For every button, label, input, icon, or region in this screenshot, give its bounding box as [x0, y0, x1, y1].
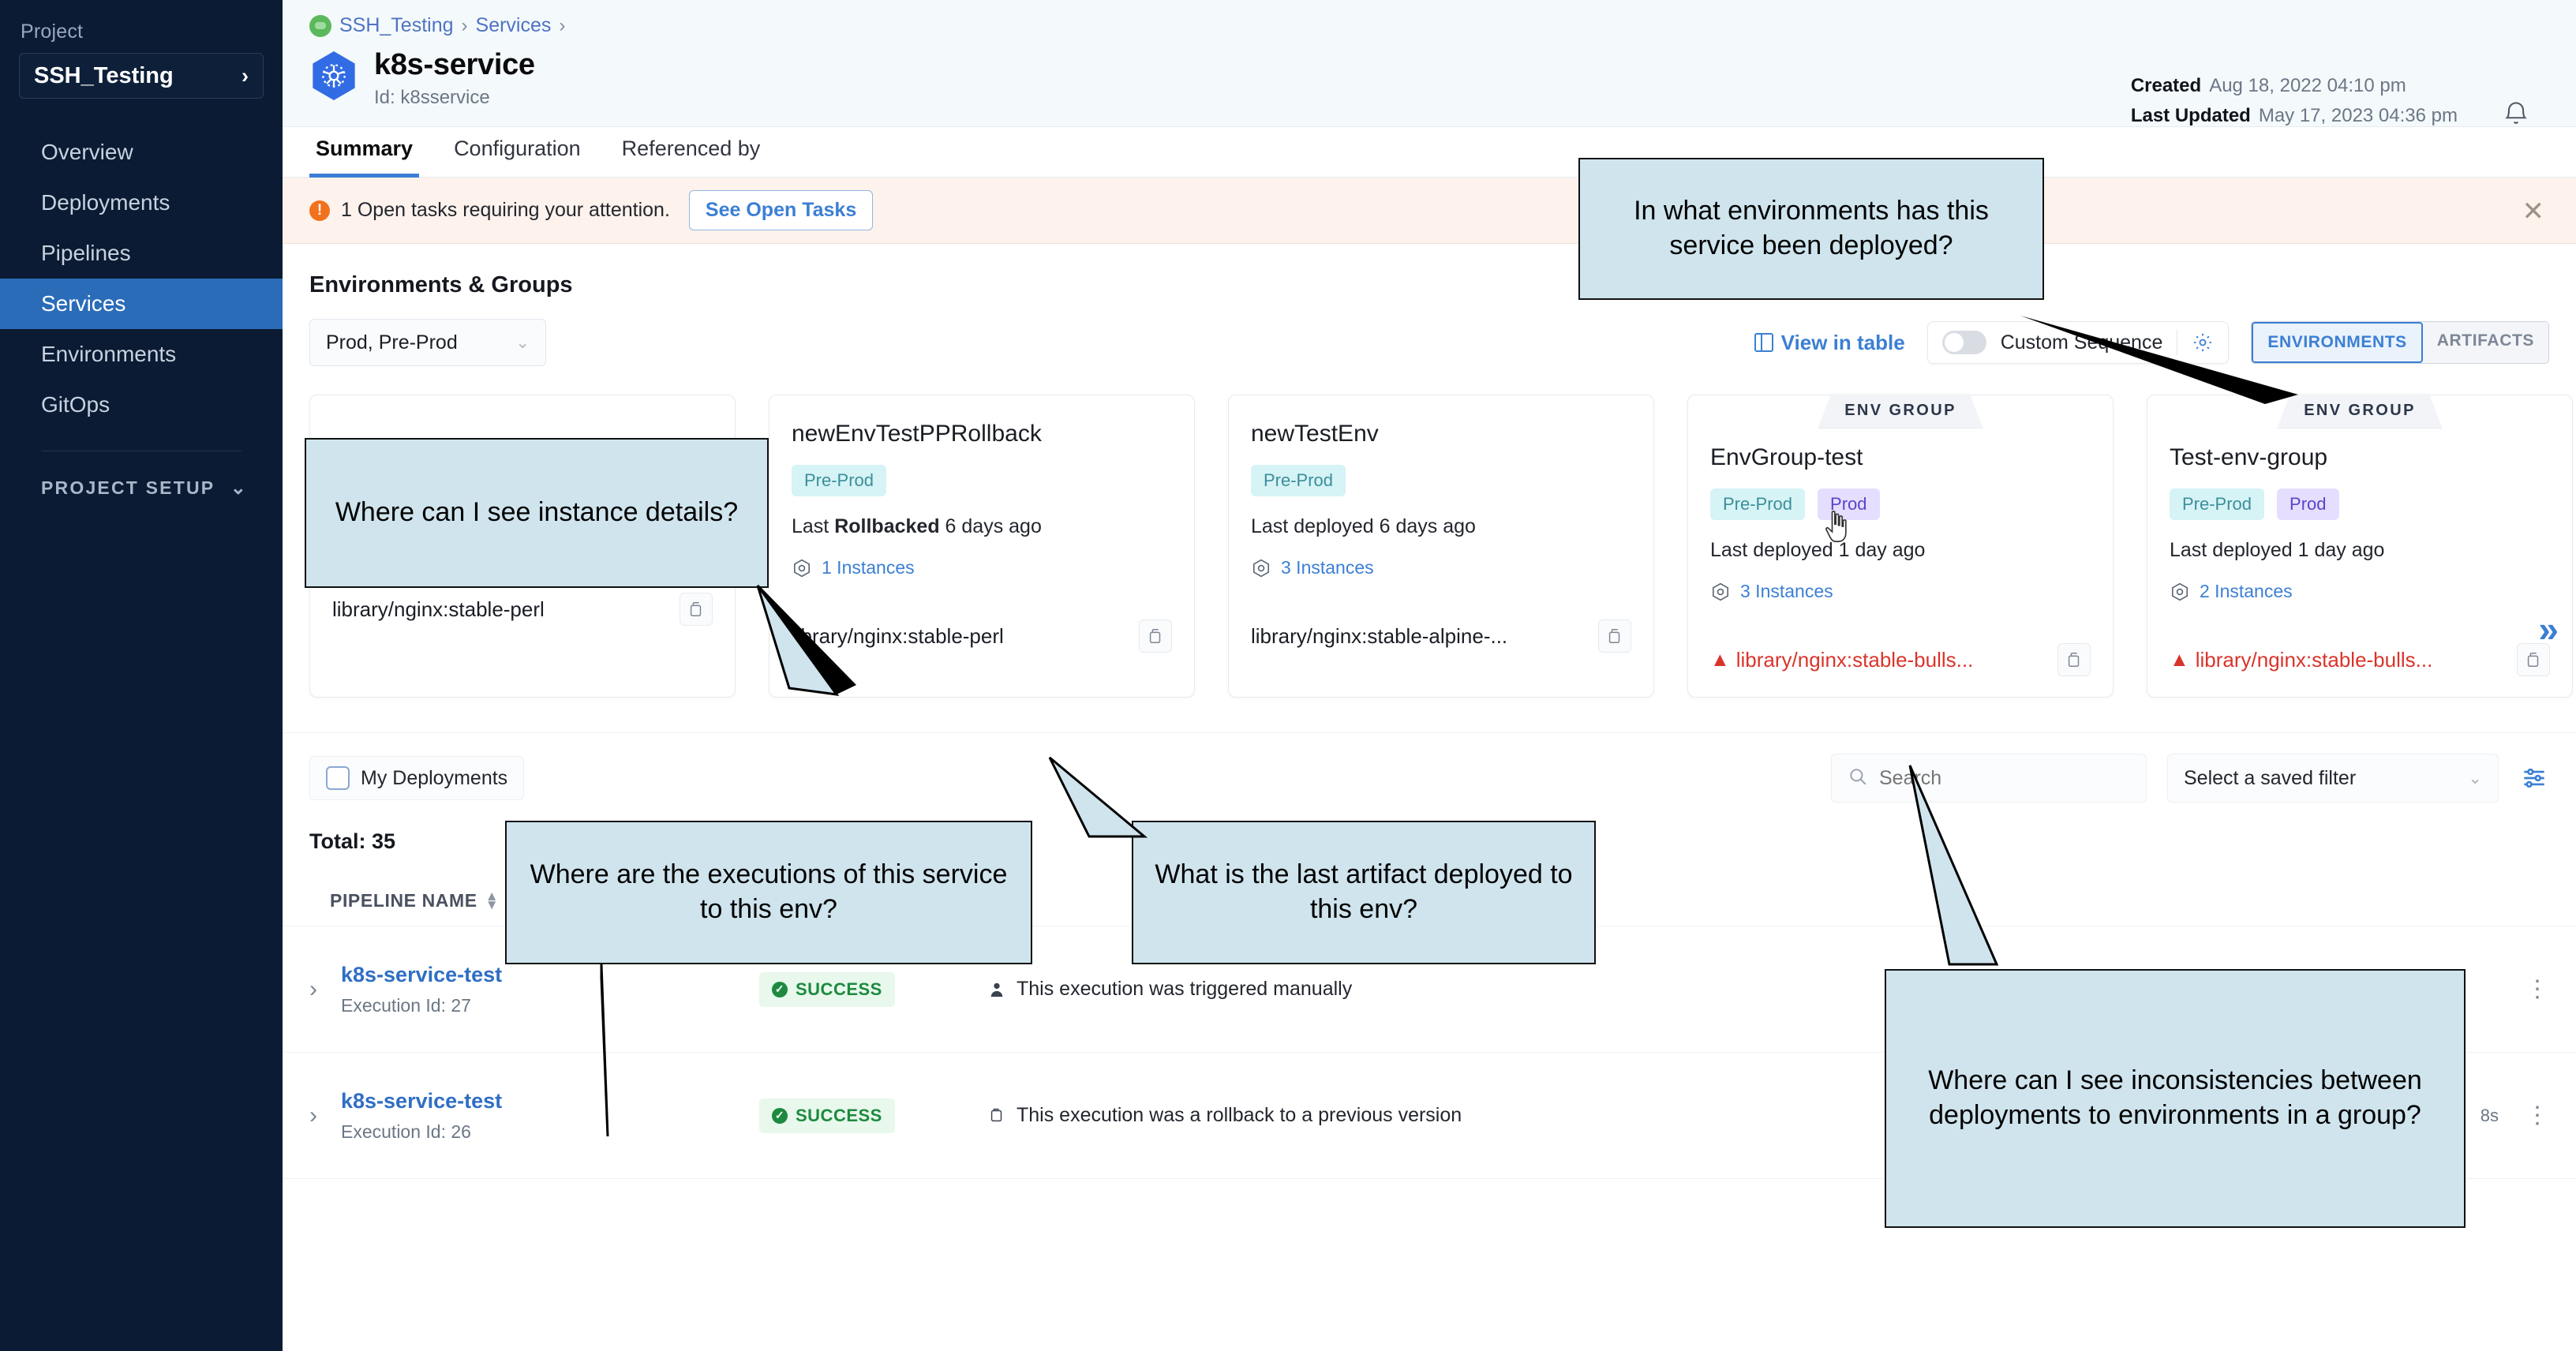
env-card[interactable]: newEnvTestPPRollback Pre-Prod Last Rollb…	[769, 395, 1195, 698]
mouse-cursor-icon	[1823, 509, 1850, 548]
breadcrumb-separator: ›	[559, 15, 565, 37]
status-badge: ✓ SUCCESS	[759, 1098, 895, 1133]
deployed-bold: Rollbacked	[834, 515, 939, 537]
copy-icon[interactable]	[1139, 619, 1172, 653]
env-card-tags: Pre-Prod	[1251, 465, 1631, 496]
env-artifact-segmented-control: ENVIRONMENTS ARTIFACTS	[2251, 321, 2549, 364]
callout-text: What is the last artifact deployed to th…	[1149, 858, 1578, 926]
page-title: k8s-service	[374, 48, 535, 82]
deployed-suffix: 1 day ago	[2298, 539, 2385, 561]
project-icon	[309, 15, 331, 37]
check-icon: ✓	[772, 1108, 788, 1124]
notifications-bell-icon[interactable]	[2502, 99, 2530, 133]
sidebar: Project SSH_Testing › Overview Deploymen…	[0, 0, 283, 1351]
copy-icon[interactable]	[680, 593, 713, 626]
callout-executions: Where are the executions of this service…	[505, 821, 1032, 964]
instances-count: 2 Instances	[2200, 581, 2293, 602]
filter-settings-icon[interactable]	[2519, 763, 2549, 793]
env-card-tags: Pre-Prod Prod	[1710, 488, 2091, 520]
copy-icon[interactable]	[2057, 643, 2091, 676]
search-input[interactable]	[1879, 767, 2130, 790]
next-cards-chevron-icon[interactable]: »	[2538, 608, 2559, 650]
filter-controls: Select a saved filter ⌄	[1831, 754, 2549, 803]
breadcrumb-services[interactable]: Services	[476, 14, 552, 37]
updated-value: May 17, 2023 04:36 pm	[2259, 105, 2458, 126]
sidebar-item-gitops[interactable]: GitOps	[0, 380, 283, 430]
cell-pipeline: k8s-service-test Execution Id: 26	[341, 1089, 759, 1143]
callout-text: In what environments has this service be…	[1596, 194, 2027, 263]
my-deployments-filter[interactable]: My Deployments	[309, 756, 524, 800]
sidebar-item-label: Overview	[41, 140, 133, 165]
sidebar-item-label: GitOps	[41, 392, 110, 417]
sidebar-item-label: Pipelines	[41, 241, 131, 266]
sidebar-nav: Overview Deployments Pipelines Services …	[0, 127, 283, 430]
env-group-card[interactable]: ENV GROUP EnvGroup-test Pre-Prod Prod La…	[1687, 395, 2114, 698]
tab-label: Summary	[316, 137, 413, 160]
view-in-table-button[interactable]: View in table	[1754, 331, 1905, 355]
execution-id: Execution Id: 27	[341, 995, 759, 1016]
cell-pipeline: k8s-service-test Execution Id: 27	[341, 963, 759, 1016]
artifact-text: library/nginx:stable-bulls...	[1736, 648, 1974, 672]
expand-row-chevron-icon[interactable]: ›	[309, 1102, 341, 1129]
env-group-ribbon: ENV GROUP	[1818, 394, 1983, 429]
custom-sequence-label: Custom Sequence	[2001, 331, 2163, 354]
env-type-filter[interactable]: Prod, Pre-Prod ⌄	[309, 319, 546, 366]
instances-icon	[1710, 582, 1731, 602]
sidebar-item-services[interactable]: Services	[0, 279, 283, 329]
updated-row: Last UpdatedMay 17, 2023 04:36 pm	[2131, 105, 2458, 127]
execution-id: Execution Id: 26	[341, 1121, 759, 1143]
chevron-right-icon: ›	[241, 65, 249, 87]
tab-label: Referenced by	[622, 137, 761, 160]
artifact-text: library/nginx:stable-bulls...	[2196, 648, 2433, 672]
deployed-prefix: Last deployed	[1710, 539, 1833, 561]
status-label: SUCCESS	[796, 979, 882, 1000]
instances-icon	[792, 558, 812, 578]
env-card[interactable]: newTestEnv Pre-Prod Last deployed 6 days…	[1228, 395, 1654, 698]
segment-artifacts[interactable]: ARTIFACTS	[2423, 322, 2548, 363]
deployed-suffix: 1 day ago	[1839, 539, 1926, 561]
artifact-name: library/nginx:stable-alpine-...	[1251, 624, 1507, 649]
artifact-name: library/nginx:stable-perl	[332, 597, 545, 622]
tag-prod: Prod	[2277, 488, 2338, 520]
created-value: Aug 18, 2022 04:10 pm	[2209, 75, 2406, 96]
page-header: SSH_Testing › Services ›	[283, 0, 2576, 127]
callout-last-artifact: What is the last artifact deployed to th…	[1132, 821, 1596, 964]
sort-icon[interactable]: ▲▼	[485, 893, 499, 908]
instances-count: 3 Instances	[1740, 581, 1833, 602]
instances-icon	[1251, 558, 1271, 578]
chevron-down-icon: ⌄	[2468, 769, 2482, 788]
breadcrumb: SSH_Testing › Services ›	[283, 14, 2576, 37]
project-selector[interactable]: SSH_Testing ›	[19, 53, 264, 99]
deployed-suffix: 6 days ago	[1380, 515, 1476, 537]
env-card-title: Test-env-group	[2170, 444, 2550, 471]
my-deployments-label: My Deployments	[361, 767, 507, 790]
sidebar-item-pipelines[interactable]: Pipelines	[0, 228, 283, 279]
updated-label: Last Updated	[2131, 105, 2251, 126]
copy-icon[interactable]	[1598, 619, 1631, 653]
alert-triangle-icon: ▲	[1710, 649, 1730, 672]
tag-preprod: Pre-Prod	[1710, 488, 1805, 520]
service-id: Id: k8sservice	[374, 87, 535, 109]
rollback-icon	[988, 1106, 1005, 1126]
env-card-artifact-row: library/nginx:stable-perl	[792, 619, 1172, 653]
see-open-tasks-button[interactable]: See Open Tasks	[689, 190, 873, 230]
env-card-artifact-row: ▲ library/nginx:stable-bulls...	[1710, 643, 2091, 676]
env-group-card[interactable]: ENV GROUP Test-env-group Pre-Prod Prod L…	[2147, 395, 2573, 698]
description-text: This execution was triggered manually	[1017, 978, 1352, 1001]
env-type-filter-value: Prod, Pre-Prod	[326, 331, 458, 354]
person-icon	[988, 979, 1005, 1000]
created-row: CreatedAug 18, 2022 04:10 pm	[2131, 75, 2458, 97]
tab-summary[interactable]: Summary	[309, 127, 419, 177]
environments-toolbar: Prod, Pre-Prod ⌄ View in table Custom Se…	[283, 298, 2576, 366]
description-text: This execution was a rollback to a previ…	[1017, 1104, 1462, 1127]
saved-filter-value: Select a saved filter	[2184, 767, 2356, 790]
env-card-tags: Pre-Prod Prod	[2170, 488, 2550, 520]
custom-sequence-toggle[interactable]	[1942, 331, 1986, 354]
table-icon	[1754, 333, 1773, 352]
env-card-deployed: Last deployed 1 day ago	[1710, 539, 2091, 562]
search-icon	[1848, 766, 1868, 791]
artifact-name-warning: ▲ library/nginx:stable-bulls...	[1710, 648, 1973, 672]
sidebar-item-overview[interactable]: Overview	[0, 127, 283, 178]
status-badge: ✓ SUCCESS	[759, 972, 895, 1007]
breadcrumb-separator: ›	[462, 15, 468, 37]
sidebar-item-deployments[interactable]: Deployments	[0, 178, 283, 228]
service-meta: CreatedAug 18, 2022 04:10 pm Last Update…	[2131, 75, 2458, 135]
deployed-prefix: Last deployed	[1251, 515, 1374, 537]
row-menu-icon[interactable]: ⋮	[2525, 1111, 2549, 1121]
sidebar-item-environments[interactable]: Environments	[0, 329, 283, 380]
instances-count: 3 Instances	[1281, 557, 1374, 578]
check-icon: ✓	[772, 982, 788, 997]
row-menu-icon[interactable]: ⋮	[2525, 985, 2549, 994]
callout-text: Where can I see instance details?	[335, 496, 738, 530]
env-card-deployed: Last deployed 6 days ago	[1251, 515, 1631, 538]
chevron-down-icon: ⌄	[230, 477, 248, 500]
sidebar-divider	[41, 451, 241, 451]
callout-text: Where are the executions of this service…	[522, 858, 1015, 926]
pipeline-name-link[interactable]: k8s-service-test	[341, 963, 759, 987]
tab-referenced-by[interactable]: Referenced by	[616, 127, 767, 177]
breadcrumb-project[interactable]: SSH_Testing	[339, 14, 454, 37]
env-group-ribbon: ENV GROUP	[2277, 394, 2443, 429]
deployed-suffix: 6 days ago	[945, 515, 1042, 537]
environments-section-title: Environments & Groups	[283, 244, 2576, 298]
env-card-instances[interactable]: 3 Instances	[1710, 581, 2091, 602]
view-in-table-label: View in table	[1781, 331, 1905, 355]
sidebar-item-label: Deployments	[41, 190, 170, 215]
artifact-name-warning: ▲ library/nginx:stable-bulls...	[2170, 648, 2432, 672]
project-name: SSH_Testing	[34, 63, 174, 89]
app-root: Project SSH_Testing › Overview Deploymen…	[0, 0, 2576, 1351]
sidebar-project-setup[interactable]: PROJECT SETUP ⌄	[0, 477, 283, 500]
env-card-tags: Pre-Prod	[792, 465, 1172, 496]
env-card-instances[interactable]: 3 Instances	[1251, 557, 1631, 578]
callout-instance-details: Where can I see instance details?	[305, 438, 769, 588]
env-card-title: EnvGroup-test	[1710, 444, 2091, 471]
duration: 8s	[2481, 1106, 2499, 1126]
sidebar-item-label: Environments	[41, 342, 176, 367]
chevron-down-icon: ⌄	[515, 333, 530, 353]
status-label: SUCCESS	[796, 1106, 882, 1126]
env-card-artifact-row: library/nginx:stable-alpine-...	[1251, 619, 1631, 653]
service-header-row: k8s-service Id: k8sservice CreatedAug 18…	[283, 37, 2576, 126]
warning-icon: !	[309, 200, 330, 221]
open-tasks-text: 1 Open tasks requiring your attention.	[341, 199, 670, 222]
callout-text: Where can I see inconsistencies between …	[1902, 1064, 2448, 1132]
divider	[2177, 330, 2177, 355]
env-card-instances[interactable]: 2 Instances	[2170, 581, 2550, 602]
instances-count: 1 Instances	[822, 557, 915, 578]
gear-icon[interactable]	[2192, 331, 2214, 354]
expand-row-chevron-icon[interactable]: ›	[309, 976, 341, 1003]
cell-status: ✓ SUCCESS	[759, 1098, 988, 1133]
alert-triangle-icon: ▲	[2170, 649, 2189, 672]
sidebar-section-label: PROJECT SETUP	[41, 477, 215, 499]
env-card-artifact-row: ▲ library/nginx:stable-bulls...	[2170, 643, 2550, 676]
env-card-title: newTestEnv	[1251, 421, 1631, 447]
tag-preprod: Pre-Prod	[1251, 465, 1346, 496]
deployments-filter-row: My Deployments Select a saved filter ⌄	[283, 732, 2576, 823]
cell-status: ✓ SUCCESS	[759, 972, 988, 1007]
kubernetes-icon	[309, 51, 358, 100]
tab-configuration[interactable]: Configuration	[447, 127, 587, 177]
close-icon[interactable]: ✕	[2522, 198, 2545, 225]
environments-view-controls: View in table Custom Sequence ENVIRONMEN…	[1754, 321, 2549, 364]
open-tasks-banner: ! 1 Open tasks requiring your attention.…	[283, 178, 2576, 244]
segment-environments[interactable]: ENVIRONMENTS	[2252, 322, 2422, 363]
artifact-name: library/nginx:stable-perl	[792, 624, 1004, 649]
deployed-prefix: Last deployed	[2170, 539, 2293, 561]
env-card-instances[interactable]: 1 Instances	[792, 557, 1172, 578]
deployed-prefix: Last	[792, 515, 829, 537]
row-actions: ⋮	[2525, 985, 2549, 994]
tag-preprod: Pre-Prod	[792, 465, 886, 496]
my-deployments-checkbox[interactable]	[326, 766, 350, 790]
custom-sequence-control: Custom Sequence	[1927, 321, 2230, 364]
env-card-deployed: Last Rollbacked 6 days ago	[792, 515, 1172, 538]
env-card-artifact-row: library/nginx:stable-perl	[332, 593, 713, 626]
column-label: PIPELINE NAME	[330, 890, 477, 911]
tab-label: Configuration	[454, 137, 581, 160]
service-identity: k8s-service Id: k8sservice	[374, 48, 535, 109]
pipeline-name-link[interactable]: k8s-service-test	[341, 1089, 759, 1113]
callout-inconsistencies: Where can I see inconsistencies between …	[1885, 969, 2466, 1228]
sidebar-project-label: Project	[0, 21, 283, 43]
saved-filter-select[interactable]: Select a saved filter ⌄	[2167, 754, 2499, 803]
instances-icon	[2170, 582, 2190, 602]
sidebar-item-label: Services	[41, 291, 125, 316]
env-card-deployed: Last deployed 1 day ago	[2170, 539, 2550, 562]
callout-env-deployed: In what environments has this service be…	[1578, 158, 2044, 300]
tag-preprod: Pre-Prod	[2170, 488, 2264, 520]
env-card-title: newEnvTestPPRollback	[792, 421, 1172, 447]
created-label: Created	[2131, 75, 2201, 96]
search-box[interactable]	[1831, 754, 2147, 803]
